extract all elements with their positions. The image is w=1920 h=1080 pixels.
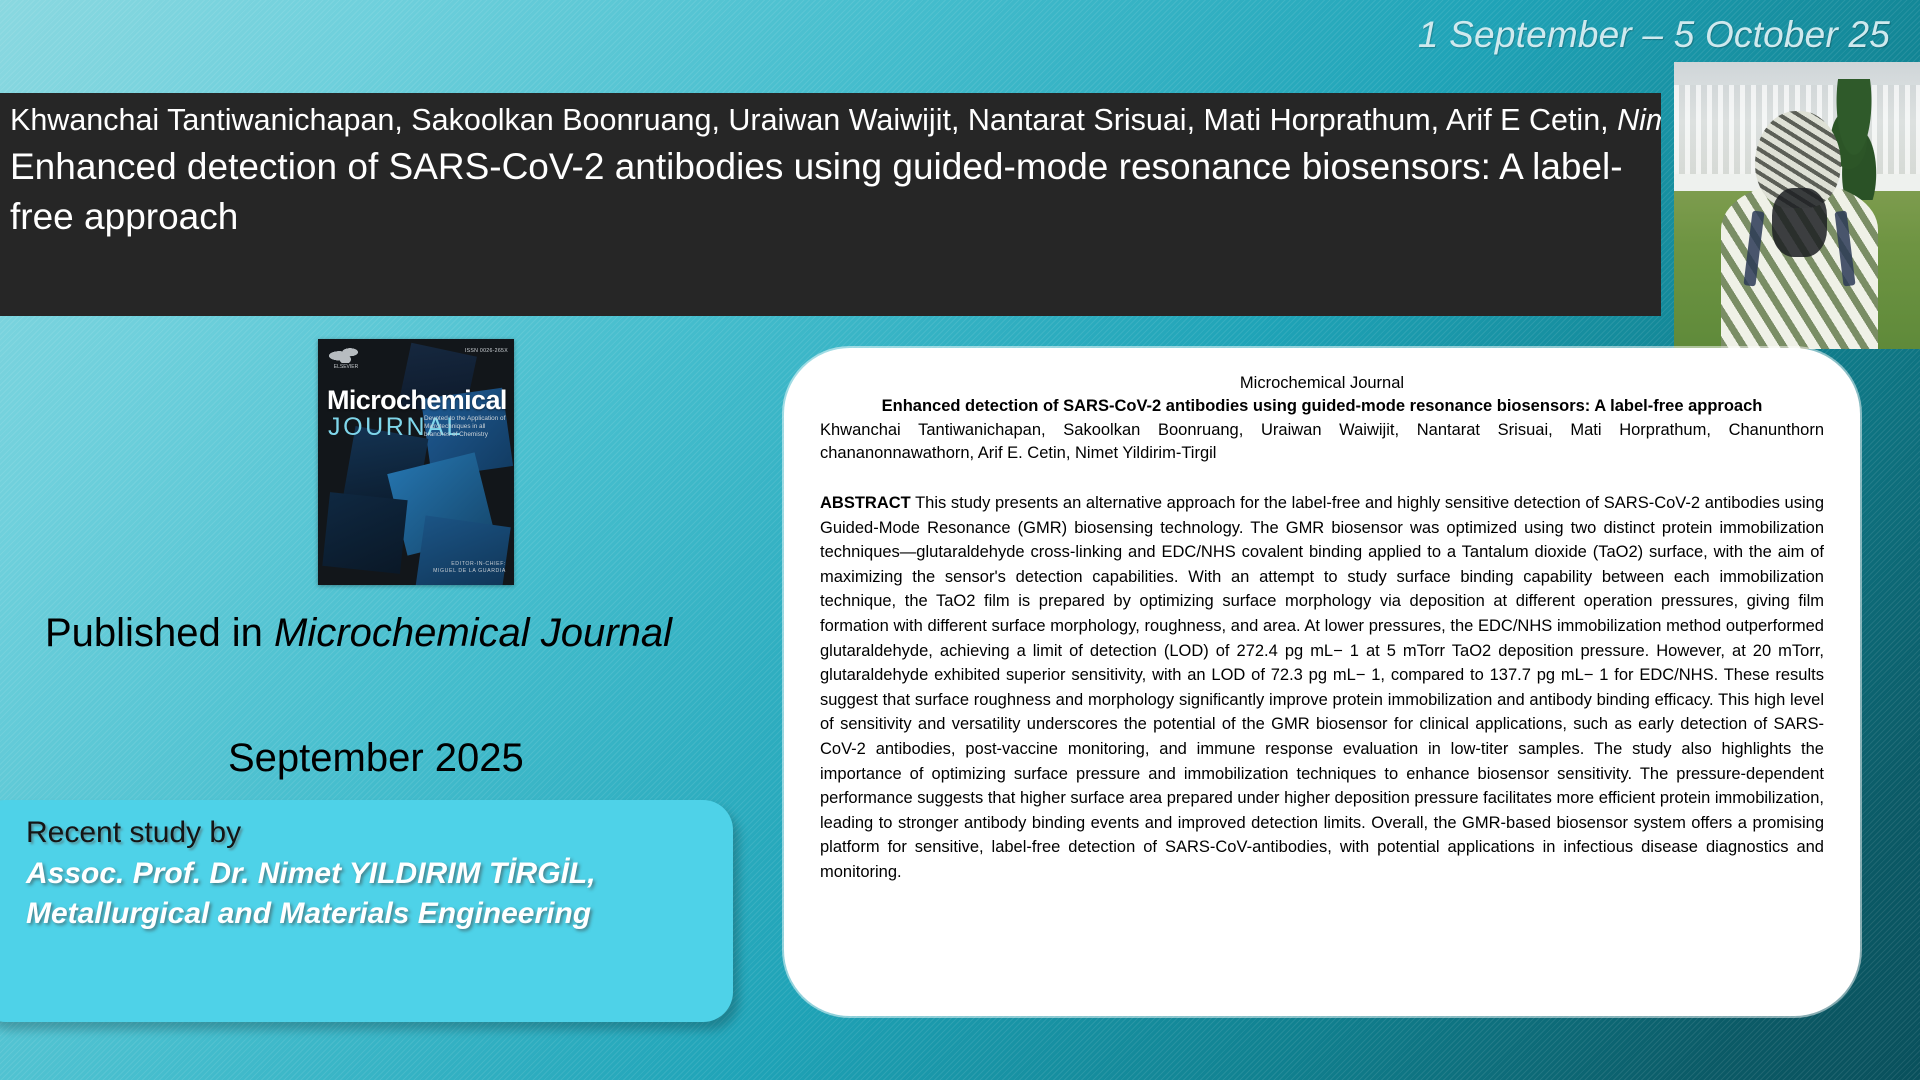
abstract-authors: Khwanchai Tantiwanichapan, Sakoolkan Boo… (820, 419, 1824, 465)
elsevier-logo-icon: ELSEVIER (325, 345, 367, 373)
cover-editor-credit: EDITOR-IN-CHIEF: MIGUEL DE LA GUARDIA (433, 561, 506, 575)
portrait-photo (1674, 62, 1920, 349)
publication-date: September 2025 (228, 736, 524, 781)
abstract-label: ABSTRACT (820, 494, 911, 512)
abstract-panel: Microchemical Journal Enhanced detection… (784, 348, 1860, 1016)
cover-tagline: Devoted to the Application of Microtechn… (424, 415, 506, 439)
banner-authors: Khwanchai Tantiwanichapan, Sakoolkan Boo… (0, 93, 1661, 140)
abstract-paper-title: Enhanced detection of SARS-CoV-2 antibod… (820, 395, 1824, 417)
journal-cover-image: ELSEVIER ISSN 0026-265X Microchemical JO… (318, 339, 514, 585)
recent-study-box: Recent study by Assoc. Prof. Dr. Nimet Y… (0, 800, 733, 1022)
date-range-label: 1 September – 5 October 25 (1418, 14, 1890, 56)
cover-polygon (322, 493, 408, 575)
cover-editor-label: EDITOR-IN-CHIEF: (433, 561, 506, 568)
banner-paper-title: Enhanced detection of SARS-CoV-2 antibod… (0, 140, 1661, 242)
banner-authors-highlight: Nimet Yildirim-Tirgil (1617, 103, 1661, 137)
published-in-journal: Microchemical Journal (274, 611, 672, 655)
recent-study-label: Recent study by (26, 816, 707, 850)
photo-person-scarf (1772, 188, 1826, 257)
abstract-journal-name: Microchemical Journal (820, 372, 1824, 394)
abstract-text: This study presents an alternative appro… (820, 494, 1824, 881)
cover-title-main: Microchemical (327, 385, 507, 416)
elsevier-tree-icon (329, 345, 363, 363)
recent-study-person: Assoc. Prof. Dr. Nimet YILDIRIM TİRGİL, … (26, 854, 707, 934)
abstract-body: ABSTRACT This study presents an alternat… (820, 491, 1824, 885)
published-in-prefix: Published in (45, 611, 274, 655)
title-banner: Khwanchai Tantiwanichapan, Sakoolkan Boo… (0, 93, 1661, 316)
cover-issn: ISSN 0026-265X (465, 348, 508, 354)
slide-canvas: 1 September – 5 October 25 Khwanchai Tan… (0, 0, 1920, 1080)
elsevier-wordmark: ELSEVIER (334, 364, 358, 370)
banner-authors-plain: Khwanchai Tantiwanichapan, Sakoolkan Boo… (10, 103, 1617, 137)
cover-editor-name: MIGUEL DE LA GUARDIA (433, 568, 506, 575)
published-in-caption: Published in Microchemical Journal (45, 608, 685, 658)
